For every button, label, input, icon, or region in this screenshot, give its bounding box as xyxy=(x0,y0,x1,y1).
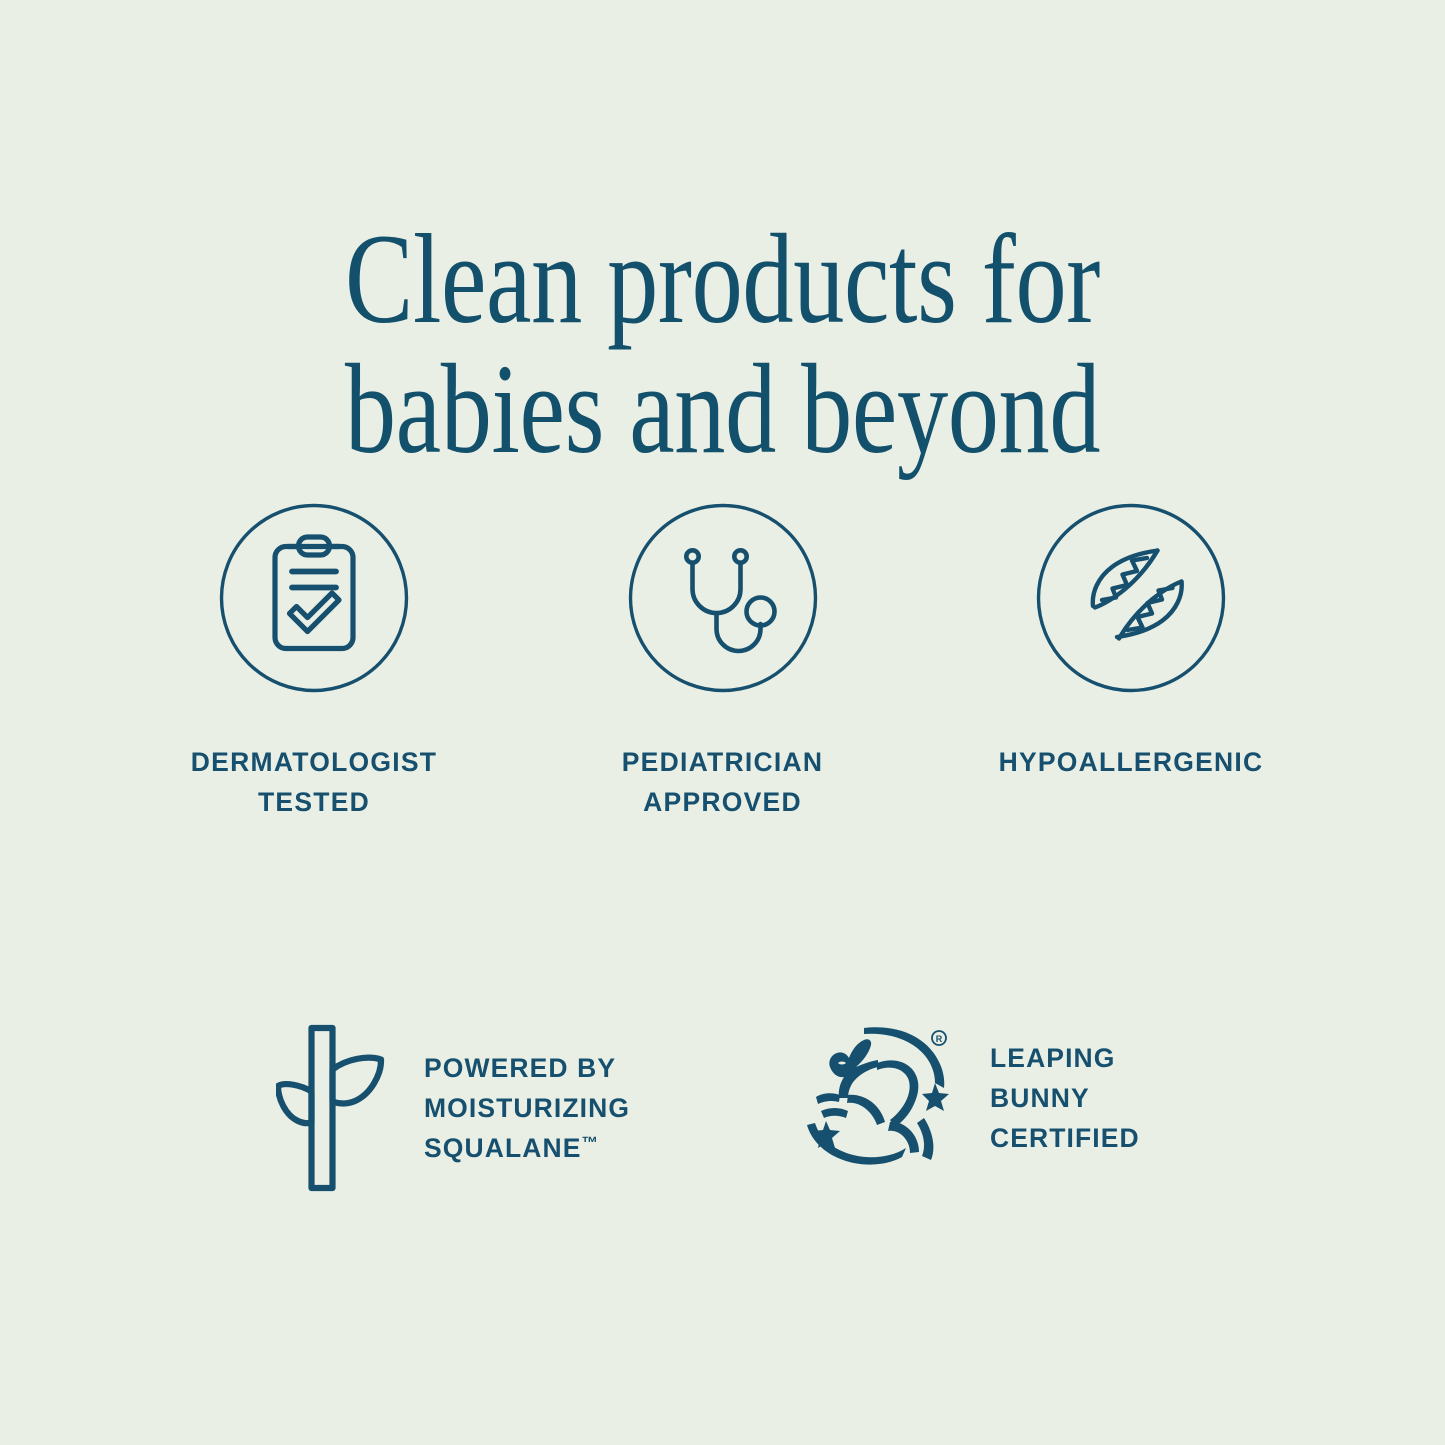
badge-label-hypoallergenic: HYPOALLERGENIC xyxy=(999,742,1264,782)
svg-text:R: R xyxy=(936,1034,943,1044)
cert-line-3: SQUALANE™ xyxy=(424,1128,630,1168)
certification-leaping-bunny: R LEAPING BUNNY CERTIFIED xyxy=(786,1022,1206,1174)
badge-dermatologist-tested: DERMATOLOGIST TESTED xyxy=(110,503,518,823)
page-title-line-1: Clean products for xyxy=(145,214,1301,345)
certification-label-leaping-bunny: LEAPING BUNNY CERTIFIED xyxy=(990,1038,1140,1159)
page-title-line-2: babies and beyond xyxy=(145,344,1301,475)
feathers-icon xyxy=(1036,503,1226,693)
claims-badge-row: DERMATOLOGIST TESTED PEDIATRICIAN xyxy=(110,503,1335,823)
marketing-panel: Clean products for babies and beyond D xyxy=(0,0,1445,1445)
leaping-bunny-logo: R xyxy=(786,1022,958,1174)
clipboard-check-icon xyxy=(219,503,409,693)
certification-row: POWERED BY MOISTURIZING SQUALANE™ xyxy=(266,1022,1206,1194)
certification-label-squalane: POWERED BY MOISTURIZING SQUALANE™ xyxy=(424,1048,630,1169)
badge-pediatrician-approved: PEDIATRICIAN APPROVED xyxy=(519,503,927,823)
badge-hypoallergenic: HYPOALLERGENIC xyxy=(927,503,1335,782)
cert-line-2: MOISTURIZING xyxy=(424,1088,630,1128)
badge-label-pediatrician-approved: PEDIATRICIAN APPROVED xyxy=(622,742,823,823)
cert-line-1: POWERED BY xyxy=(424,1048,630,1088)
page-title: Clean products for babies and beyond xyxy=(145,214,1301,475)
cert-line-2: BUNNY xyxy=(990,1078,1140,1118)
cert-line-3: CERTIFIED xyxy=(990,1118,1140,1158)
certification-squalane: POWERED BY MOISTURIZING SQUALANE™ xyxy=(266,1022,786,1194)
stethoscope-icon xyxy=(628,503,818,693)
badge-label-line-2: TESTED xyxy=(258,787,370,817)
cert-line-1: LEAPING xyxy=(990,1038,1140,1078)
cert-line-3-text: SQUALANE xyxy=(424,1133,582,1163)
badge-label-dermatologist-tested: DERMATOLOGIST TESTED xyxy=(191,742,437,823)
badge-label-line-1: HYPOALLERGENIC xyxy=(999,747,1264,777)
badge-label-line-1: DERMATOLOGIST xyxy=(191,747,437,777)
trademark-symbol: ™ xyxy=(582,1134,598,1152)
badge-label-line-2: APPROVED xyxy=(643,787,802,817)
sugarcane-stalk-icon xyxy=(276,1022,388,1194)
badge-label-line-1: PEDIATRICIAN xyxy=(622,747,823,777)
